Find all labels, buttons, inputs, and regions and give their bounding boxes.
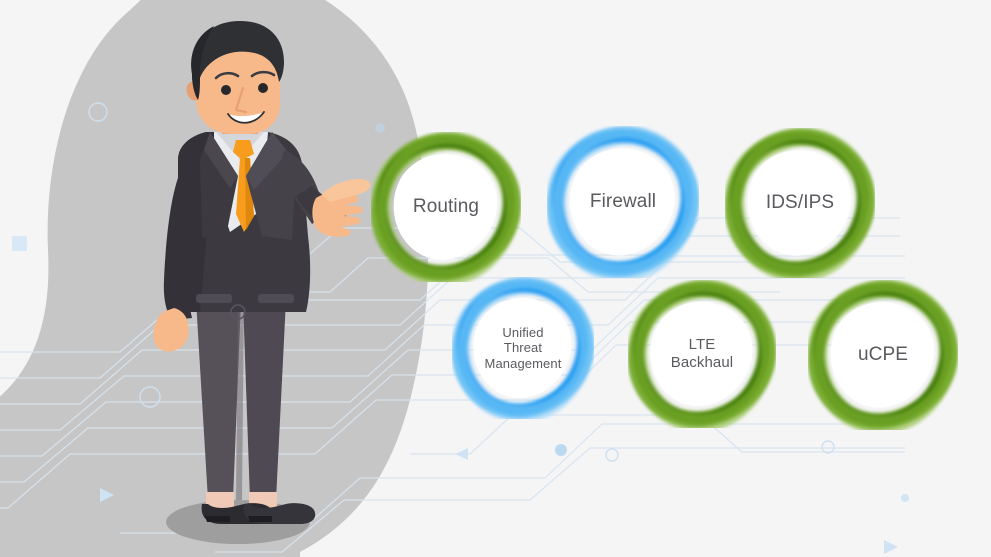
head-group bbox=[186, 21, 284, 134]
bubble-unified-threat-management[interactable]: Unified Threat Management bbox=[452, 277, 594, 419]
bubble-ids-ips[interactable]: IDS/IPS bbox=[725, 128, 875, 278]
bubble-ring-ucpe bbox=[808, 280, 958, 430]
bubble-lte-backhaul[interactable]: LTE Backhaul bbox=[628, 280, 776, 428]
bubble-ring-ids-ips bbox=[725, 128, 875, 278]
bubble-ring-lte-backhaul bbox=[628, 280, 776, 428]
bubble-ring-routing bbox=[371, 132, 521, 282]
bubble-ring-firewall bbox=[547, 126, 699, 278]
bubble-ring-unified-threat-management bbox=[452, 277, 594, 419]
slide-canvas: RoutingFirewallIDS/IPSUnified Threat Man… bbox=[0, 0, 991, 557]
bubble-routing[interactable]: Routing bbox=[371, 132, 521, 282]
bubble-ucpe[interactable]: uCPE bbox=[808, 280, 958, 430]
bubble-firewall[interactable]: Firewall bbox=[547, 126, 699, 278]
legs-group bbox=[196, 300, 286, 500]
